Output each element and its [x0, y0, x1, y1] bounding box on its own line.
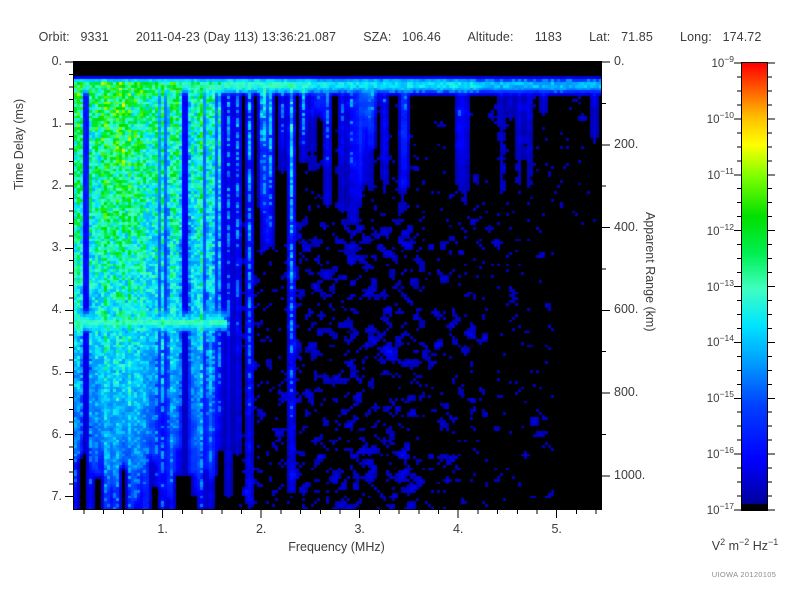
axis-tick-label: 1.: [133, 522, 193, 536]
axis-tick-label: 2.: [0, 178, 62, 192]
axis-tick-label: 800.: [614, 385, 638, 399]
axis-tick-label: 5.: [527, 522, 587, 536]
axis-tick-label: 400.: [614, 220, 638, 234]
axis-tick-label: 1.: [0, 116, 62, 130]
axis-tick-label: 1000.: [614, 468, 645, 482]
axis-tick-label: 0.: [0, 54, 62, 68]
colorbar-tick-label: 10−14: [678, 333, 734, 349]
axis-tick-label: 0.: [614, 54, 624, 68]
axis-tick-label: 3.: [0, 240, 62, 254]
colorbar-tick-label: 10−16: [678, 445, 734, 461]
axis-tick-label: 6.: [0, 427, 62, 441]
colorbar: [741, 62, 768, 511]
colorbar-tick-label: 10−12: [678, 222, 734, 238]
credit-text: UIOWA 20120105: [690, 570, 798, 579]
axis-tick-label: 5.: [0, 364, 62, 378]
colorbar-tick-label: 10−9: [678, 54, 734, 70]
axis-tick-label: 2.: [231, 522, 291, 536]
axis-tick-label: 600.: [614, 302, 638, 316]
x-axis-title: Frequency (MHz): [0, 540, 673, 554]
axis-tick-label: 3.: [330, 522, 390, 536]
axis-tick-label: 200.: [614, 137, 638, 151]
colorbar-tick-label: 10−10: [678, 110, 734, 126]
colorbar-tick-label: 10−15: [678, 389, 734, 405]
colorbar-tick-label: 10−17: [678, 501, 734, 517]
colorbar-tick-label: 10−11: [678, 166, 734, 182]
axis-tick-label: 4.: [0, 302, 62, 316]
colorbar-units: V2 m−2 Hz−1: [690, 537, 800, 553]
y-axis-left-title: Time Delay (ms): [12, 99, 26, 190]
axis-tick-label: 7.: [0, 489, 62, 503]
y-axis-right-title: Apparent Range (km): [643, 212, 657, 332]
axis-tick-label: 4.: [428, 522, 488, 536]
colorbar-gradient: [742, 63, 767, 510]
colorbar-tick-label: 10−13: [678, 278, 734, 294]
